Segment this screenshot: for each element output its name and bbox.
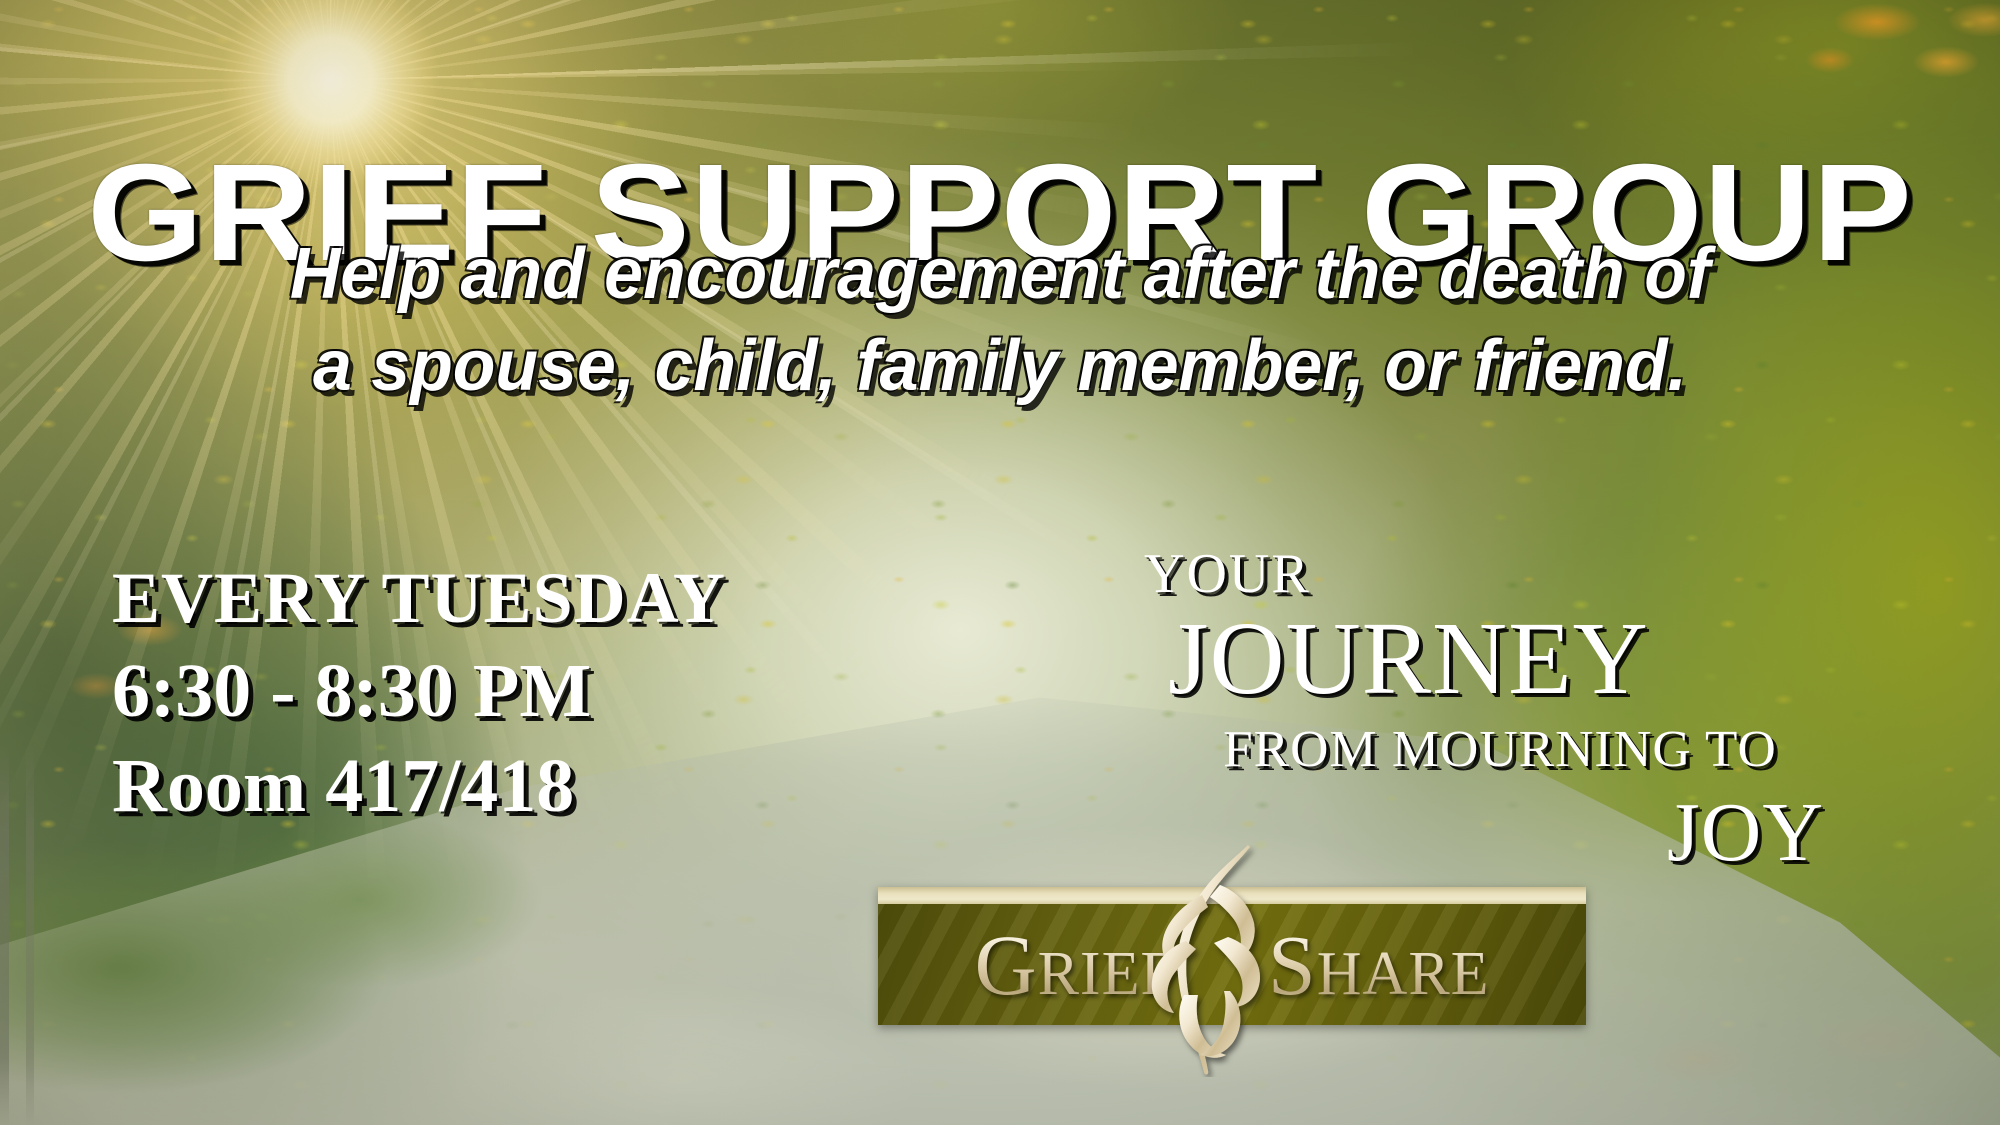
tagline-joy: JOY (1130, 788, 1870, 877)
logo-grief-cap: G (974, 917, 1037, 1013)
meeting-day: EVERY TUESDAY (112, 558, 726, 639)
logo-word-share: SHARE (1268, 915, 1490, 1015)
subtitle: Help and encouragement after the death o… (88, 228, 1912, 412)
tagline-from-mourning-to: FROM MOURNING TO (1123, 724, 1878, 776)
logo-top-stripe (878, 887, 1586, 904)
meeting-room: Room 417/418 (112, 744, 726, 829)
logo-wordmark: GRIEF SHARE (878, 904, 1586, 1025)
poster-content: GRIEF SUPPORT GROUP Help and encourageme… (0, 0, 2000, 1125)
logo-share-cap: S (1268, 917, 1317, 1013)
tagline-journey: JOURNEY (1168, 604, 1870, 714)
tagline-your: YOUR (1144, 546, 1870, 602)
logo-share-rest: HARE (1317, 940, 1490, 1008)
meeting-details: EVERY TUESDAY 6:30 - 8:30 PM Room 417/41… (112, 558, 726, 829)
poster-canvas: GRIEF SUPPORT GROUP Help and encourageme… (0, 0, 2000, 1125)
subtitle-line-1: Help and encouragement after the death o… (88, 228, 1912, 320)
griefshare-logo: GRIEF SHARE (878, 887, 1586, 1025)
tagline-block: YOUR JOURNEY FROM MOURNING TO JOY (1130, 546, 1870, 877)
meeting-time: 6:30 - 8:30 PM (112, 649, 726, 734)
logo-grief-rest: RIEF (1038, 940, 1176, 1008)
logo-word-grief: GRIEF (974, 915, 1175, 1015)
subtitle-line-2: a spouse, child, family member, or frien… (88, 320, 1912, 412)
